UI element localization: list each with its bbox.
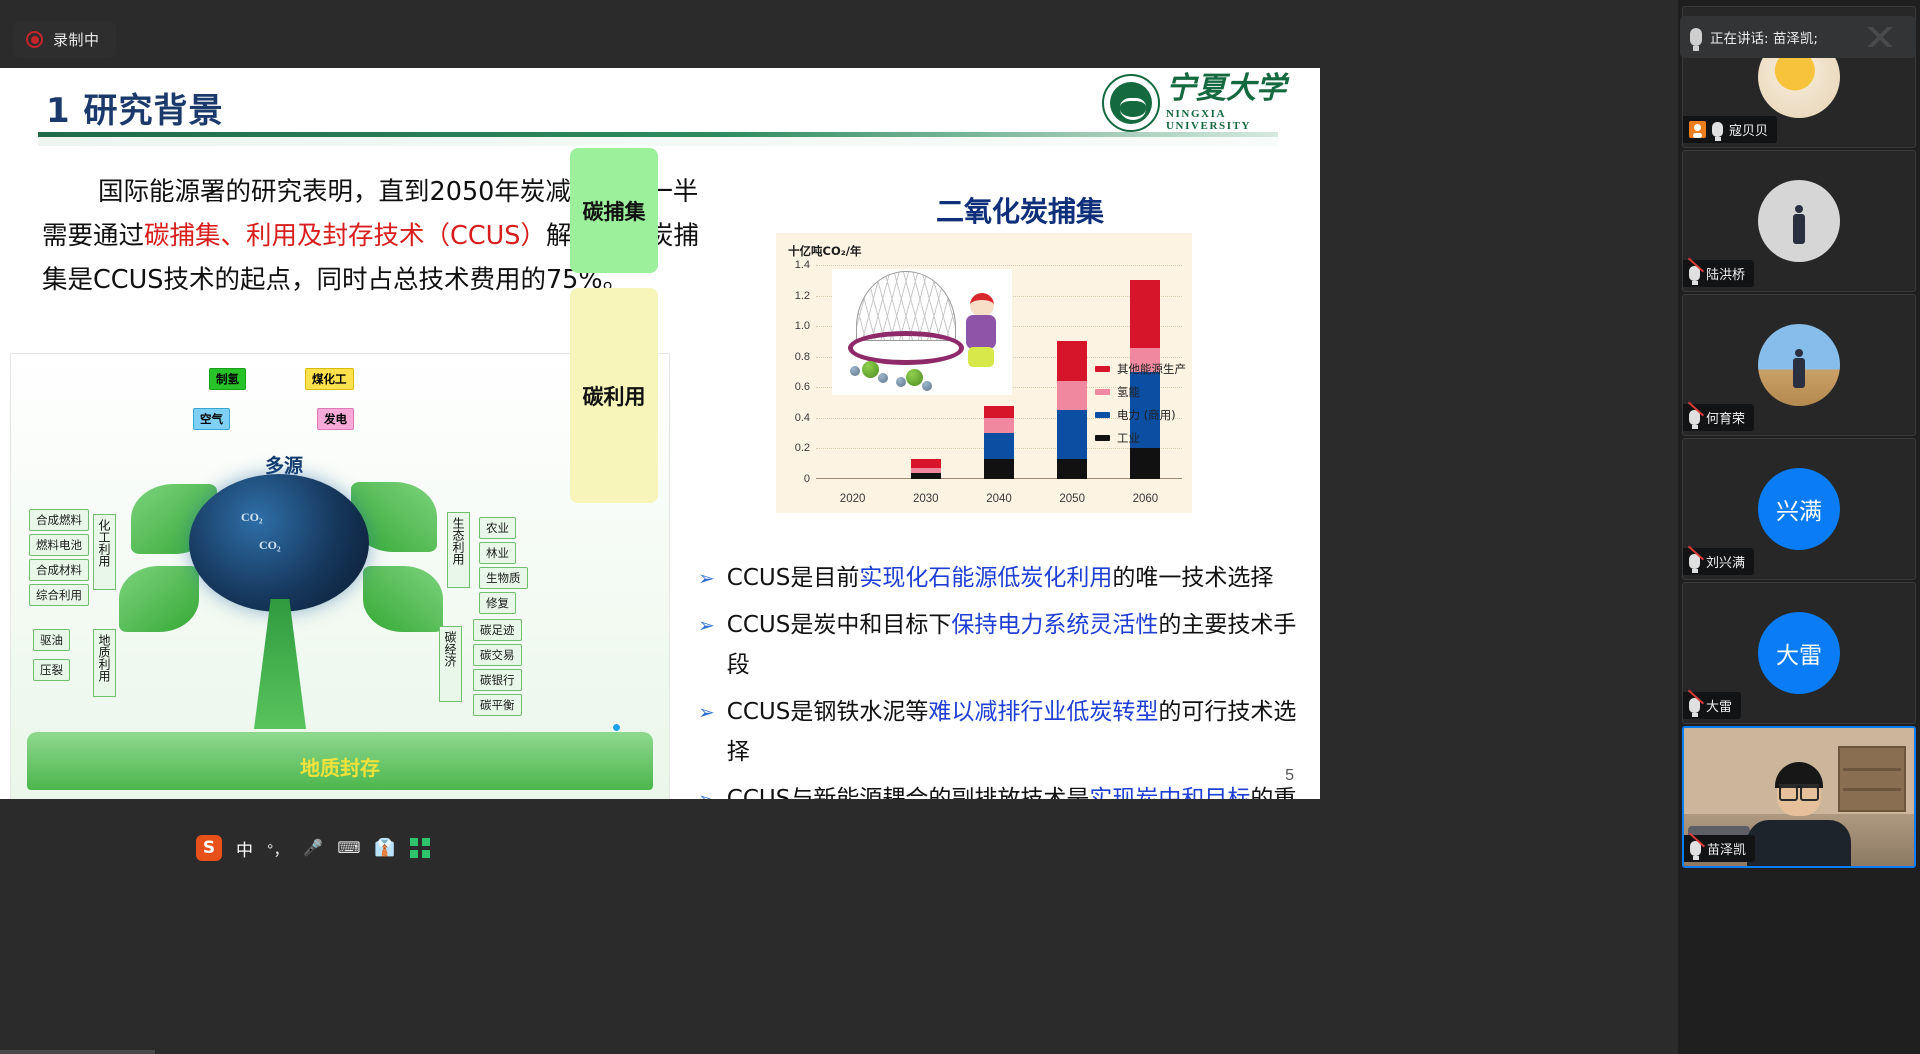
participant-tile[interactable]: 何育荣 — [1682, 294, 1916, 436]
active-speaker-label: 正在讲话: 苗泽凯; — [1710, 27, 1818, 47]
bullet-arrow-icon: ➢ — [698, 605, 715, 645]
diagram-tag-forestry: 林业 — [479, 542, 516, 564]
chart-bar-segment — [1057, 459, 1087, 479]
mic-muted-icon[interactable] — [1689, 410, 1700, 425]
diagram-vlabel-eco: 生态利用 — [447, 512, 470, 588]
diagram-tag-biomass: 生物质 — [479, 567, 528, 589]
chart-gridline — [816, 265, 1182, 266]
bookshelf-object — [1838, 746, 1906, 812]
leaf-shape-lower-left — [119, 566, 199, 632]
participant-name: 何育荣 — [1706, 408, 1745, 427]
bullet-list: ➢CCUS是目前实现化石能源低炭化利用的唯一技术选择➢CCUS是炭中和目标下保持… — [698, 558, 1298, 799]
bullet-arrow-icon: ➢ — [698, 558, 715, 598]
chart-legend-item: 工业 — [1095, 430, 1186, 446]
legend-label: 其他能源生产 — [1117, 361, 1186, 377]
diagram-tag-coal-chem: 煤化工 — [305, 368, 354, 390]
avatar — [1758, 324, 1840, 406]
ime-toolbar[interactable]: S 中 °， 🎤 ⌨ 👔 — [196, 835, 430, 861]
bullet-arrow-icon: ➢ — [698, 692, 715, 732]
chart-y-tick: 1.4 — [780, 259, 810, 271]
diagram-vlabel-geological: 地质利用 — [93, 629, 116, 697]
glasses-icon — [1779, 784, 1819, 795]
trunk-graphic — [254, 599, 306, 729]
diagram-tag-agri: 农业 — [479, 517, 516, 539]
participant-tile[interactable]: 陆洪桥 — [1682, 150, 1916, 292]
leaf-shape-lower-right — [363, 566, 443, 632]
diagram-tag-power-gen: 发电 — [317, 408, 354, 430]
chart-legend-item: 电力 (商用) — [1095, 407, 1186, 423]
diagram-tag-synmaterial: 合成材料 — [29, 559, 89, 581]
host-icon — [1689, 121, 1706, 138]
speaking-mic-icon — [1690, 28, 1702, 46]
bullet-item: ➢CCUS与新能源耦合的副排放技术是实现炭中和目标的重要技术保障。 — [698, 779, 1298, 799]
bullet-item: ➢CCUS是炭中和目标下保持电力系统灵活性的主要技术手段 — [698, 605, 1298, 685]
keyboard-icon[interactable]: ⌨ — [337, 838, 360, 858]
participant-name-bar: 苗泽凯 — [1684, 835, 1755, 862]
chart-legend: 其他能源生产氢能电力 (商用)工业 — [1095, 361, 1186, 453]
recording-label: 录制中 — [53, 29, 100, 50]
top-bar: 录制中 — [0, 0, 1610, 68]
ime-mode-toggle[interactable]: 中 — [236, 836, 253, 861]
avatar-figure — [1793, 358, 1805, 388]
participant-name: 寇贝贝 — [1729, 120, 1768, 139]
participant-name: 刘兴满 — [1706, 552, 1745, 571]
co2-molecule-icon-1 — [862, 361, 879, 378]
diagram-tag-bank: 碳银行 — [473, 669, 522, 691]
participant-name-bar: 刘兴满 — [1683, 548, 1754, 575]
diagram-tag-eor: 驱油 — [33, 629, 70, 651]
chart-x-tick: 2060 — [1133, 493, 1159, 505]
bullet-text-pre: CCUS是钢铁水泥等 — [727, 699, 929, 725]
chart-bar-segment — [911, 473, 941, 479]
diagram-tag-fuelcell: 燃料电池 — [29, 534, 89, 556]
title-divider-soft — [38, 137, 1278, 146]
university-name-cn: 宁夏大学 — [1166, 74, 1312, 104]
legend-label: 氢能 — [1117, 384, 1140, 400]
chart-illustration — [832, 269, 1012, 395]
slide-canvas: 1 研究背景 宁夏大学 NINGXIA UNIVERSITY 国际能源署的研究表… — [0, 68, 1320, 799]
bullet-text: CCUS是目前实现化石能源低炭化利用的唯一技术选择 — [727, 558, 1274, 598]
page-title: 1 研究背景 — [46, 83, 224, 132]
avatar-figure — [1793, 214, 1805, 244]
co2-oxygen-icon-2 — [878, 373, 888, 383]
geological-storage-band: 地质封存 — [27, 732, 653, 790]
chart-bar-group — [911, 459, 941, 479]
participant-name-bar: 何育荣 — [1683, 404, 1754, 431]
bullet-text: CCUS是炭中和目标下保持电力系统灵活性的主要技术手段 — [727, 605, 1298, 685]
selection-handle-bottom[interactable] — [612, 723, 621, 732]
participant-name: 大雷 — [1706, 696, 1732, 715]
sogou-ime-icon[interactable]: S — [196, 835, 222, 861]
chart-bar-segment — [1057, 381, 1087, 410]
bullet-text: CCUS与新能源耦合的副排放技术是实现炭中和目标的重要技术保障。 — [727, 779, 1298, 799]
taskbar-line — [0, 1050, 155, 1054]
chart-y-tick: 1.2 — [780, 290, 810, 302]
slide-page-number: 5 — [1285, 767, 1294, 785]
bullet-item: ➢CCUS是目前实现化石能源低炭化利用的唯一技术选择 — [698, 558, 1298, 598]
chart-x-tick: 2040 — [986, 493, 1012, 505]
legend-swatch — [1095, 389, 1110, 395]
bullet-text: CCUS是钢铁水泥等难以减排行业低炭转型的可行技术选择 — [727, 692, 1298, 772]
mic-icon[interactable] — [1712, 122, 1723, 137]
legend-label: 工业 — [1117, 430, 1140, 446]
diagram-tag-synfuel: 合成燃料 — [29, 509, 89, 531]
chart-legend-item: 氢能 — [1095, 384, 1186, 400]
chart-ylabel: 十亿吨CO₂/年 — [788, 243, 861, 259]
participant-tile[interactable]: 苗泽凯 — [1682, 726, 1916, 868]
bullet-text-pre: CCUS与新能源耦合的副排放技术是 — [727, 786, 1090, 799]
avatar: 大雷 — [1758, 612, 1840, 694]
chart-bar-segment — [1130, 280, 1160, 347]
chart-y-tick: 0.8 — [780, 351, 810, 363]
participant-name-bar: 寇贝贝 — [1683, 116, 1777, 143]
chart-bar-segment — [1057, 410, 1087, 459]
diagram-tag-air: 空气 — [193, 408, 230, 430]
diagram-tag-comprehensive: 综合利用 — [29, 584, 89, 606]
co2-oxygen-icon-1 — [850, 366, 860, 376]
co2-oxygen-icon-3 — [896, 377, 906, 387]
paragraph-highlight: 碳捕集、利用及封存技术（CCUS） — [144, 221, 546, 251]
legend-swatch — [1095, 366, 1110, 372]
shirt-icon[interactable]: 👔 — [374, 838, 395, 858]
diagram-tag-balance: 碳平衡 — [473, 694, 522, 716]
child-catching-co2-icon — [958, 293, 1006, 369]
diagram-vlabel-chemical: 化工利用 — [93, 514, 116, 590]
avatar: 兴满 — [1758, 468, 1840, 550]
record-icon — [26, 31, 43, 48]
participant-name: 苗泽凯 — [1707, 839, 1746, 858]
chart-y-tick: 0.4 — [780, 412, 810, 424]
diagram-tag-trading: 碳交易 — [473, 644, 522, 666]
chart-y-tick: 0 — [780, 473, 810, 485]
net-ring-icon — [848, 331, 964, 365]
university-logo: 宁夏大学 NINGXIA UNIVERSITY — [1102, 72, 1312, 134]
person-body — [1747, 820, 1851, 866]
university-seal-icon — [1102, 74, 1160, 132]
chart-x-tick: 2020 — [840, 493, 866, 505]
chart-bar-segment — [1057, 341, 1087, 381]
bullet-text-highlight: 实现化石能源低炭化利用 — [859, 565, 1112, 591]
chart-bar-segment — [984, 459, 1014, 479]
chart-bar-group — [1057, 341, 1087, 479]
mic-muted-icon[interactable] — [1689, 698, 1700, 713]
earth-graphic: CO₂ CO₂ — [189, 474, 369, 612]
bullet-text-pre: CCUS是炭中和目标下 — [727, 612, 952, 638]
participant-name-bar: 大雷 — [1683, 692, 1741, 719]
legend-swatch — [1095, 412, 1110, 418]
mic-muted-icon[interactable] — [1689, 266, 1700, 281]
mic-icon[interactable]: 🎤 — [303, 838, 323, 858]
participant-name-bar: 陆洪桥 — [1683, 260, 1754, 287]
legend-swatch — [1095, 435, 1110, 441]
chart-y-tick: 0.2 — [780, 442, 810, 454]
avatar — [1758, 180, 1840, 262]
recording-indicator[interactable]: 录制中 — [14, 21, 116, 58]
box-carbon-capture[interactable]: 碳捕集 — [570, 148, 658, 273]
participant-name: 陆洪桥 — [1706, 264, 1745, 283]
chart-bar-segment — [984, 418, 1014, 433]
chart-title: 二氧化炭捕集 — [870, 190, 1170, 230]
chart-legend-item: 其他能源生产 — [1095, 361, 1186, 377]
bullet-text-highlight: 难以减排行业低炭转型 — [928, 699, 1158, 725]
ime-punctuation-toggle[interactable]: °， — [267, 836, 289, 860]
university-name-en: NINGXIA UNIVERSITY — [1166, 108, 1312, 132]
mic-muted-icon[interactable] — [1690, 841, 1701, 856]
chart-y-tick: 0.6 — [780, 381, 810, 393]
diagram-tag-restoration: 修复 — [479, 592, 516, 614]
chart-bar-segment — [1130, 448, 1160, 479]
geological-storage-label: 地质封存 — [27, 752, 653, 781]
meeting-screen-share-window: 录制中 1 研究背景 宁夏大学 NINGXIA UNIVERSITY 国际能源署… — [0, 0, 1920, 1054]
chart-bar-segment — [984, 406, 1014, 418]
participant-tile[interactable]: 大雷大雷 — [1682, 582, 1916, 724]
diagram-tag-fracking: 压裂 — [33, 659, 70, 681]
box-carbon-utilization[interactable]: 碳利用 — [570, 288, 658, 503]
bullet-arrow-icon: ➢ — [698, 779, 715, 799]
grid-icon[interactable] — [410, 838, 430, 858]
bullet-text-highlight: 保持电力系统灵活性 — [951, 612, 1158, 638]
mic-muted-icon[interactable] — [1689, 554, 1700, 569]
chart-bar-segment — [911, 459, 941, 468]
participants-sidebar[interactable]: 正在讲话: 苗泽凯; 寇贝贝陆洪桥何育荣兴满刘兴满大雷大雷苗泽凯 — [1678, 0, 1920, 1054]
chart-bar-group — [984, 406, 1014, 479]
chart-x-tick: 2030 — [913, 493, 939, 505]
bullet-text-post: 的唯一技术选择 — [1112, 565, 1273, 591]
chart-bar-segment — [984, 433, 1014, 459]
participant-tile[interactable]: 兴满刘兴满 — [1682, 438, 1916, 580]
diagram-vlabel-carbon-econ: 碳经济 — [439, 626, 462, 702]
bullet-item: ➢CCUS是钢铁水泥等难以减排行业低炭转型的可行技术选择 — [698, 692, 1298, 772]
bullet-text-pre: CCUS是目前 — [727, 565, 860, 591]
audio-wave-icon — [1854, 27, 1906, 47]
diagram-tag-footprint: 碳足迹 — [473, 619, 522, 641]
co2-oxygen-icon-4 — [922, 381, 932, 391]
active-speaker-banner: 正在讲话: 苗泽凯; — [1680, 16, 1916, 58]
chart-y-tick: 1.0 — [780, 320, 810, 332]
diagram-tag-hydrogen: 制氢 — [209, 368, 246, 390]
legend-label: 电力 (商用) — [1117, 407, 1176, 423]
co2-molecule-icon-2 — [906, 369, 923, 386]
bullet-text-highlight: 实现炭中和目标 — [1089, 786, 1250, 799]
chart-x-tick: 2050 — [1059, 493, 1085, 505]
bottom-bar: S 中 °， 🎤 ⌨ 👔 — [0, 799, 1320, 1054]
emissions-chart: 十亿吨CO₂/年 00.20.40.60.81.01.21.4202020302… — [776, 233, 1192, 513]
